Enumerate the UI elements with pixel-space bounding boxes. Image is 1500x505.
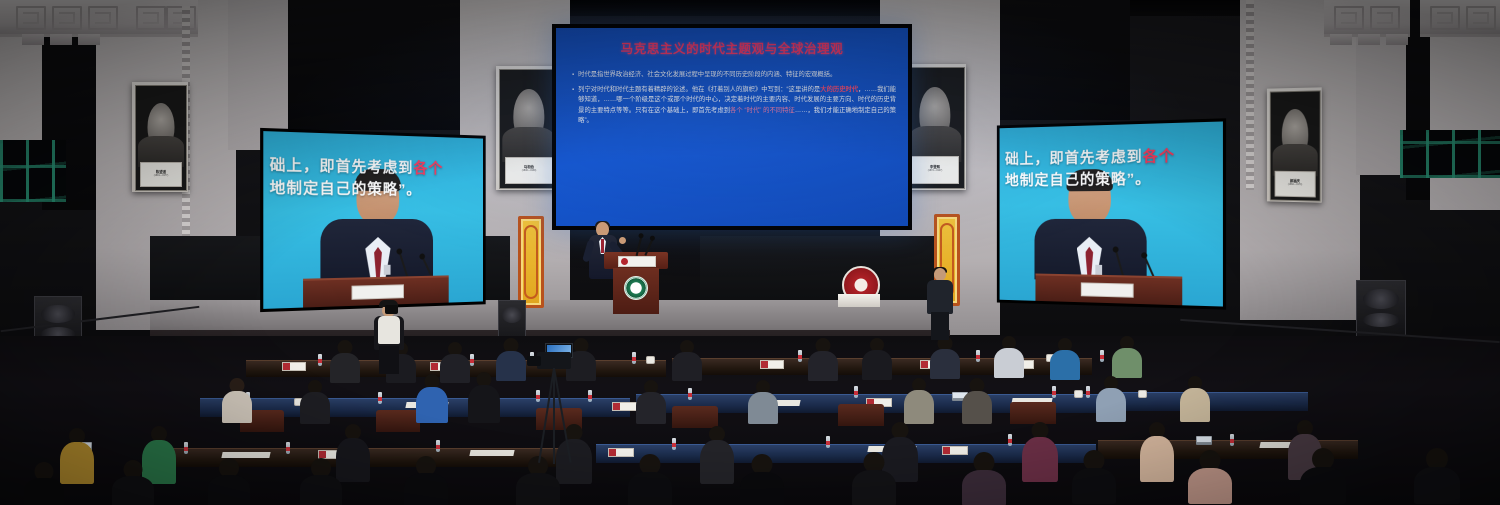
- audience-person: [930, 336, 960, 378]
- water-bottle: [588, 390, 592, 402]
- portrait-image: 马相伯 (1840—1939): [499, 69, 559, 189]
- overlay-line-1-red: 各个: [1143, 147, 1175, 165]
- bullet-seg-highlight-red: 大的历史时代: [820, 86, 858, 93]
- audience-person: [208, 458, 250, 505]
- slide-bullet-2: ▪ 列宁对时代和时代主题有着精辟的论述。他在《打着别人的旗帜》中写到：“这里讲的…: [572, 85, 896, 126]
- presenter-tie: [601, 239, 604, 253]
- portrait-years: (1872—1947): [912, 169, 959, 172]
- slide-surface: 马克思主义的时代主题观与全球治理观 ▪ 时代是指世界政治经济、社会文化发展过程中…: [556, 28, 908, 226]
- audience-person: [1180, 376, 1210, 422]
- dentil-course-1: [22, 34, 100, 45]
- left-led-screen[interactable]: 础上，即首先考虑到各个 地制定自己的策略”。: [260, 128, 486, 312]
- award-pedestal: [838, 294, 880, 307]
- portrait-years: (1882—1970): [1276, 182, 1315, 186]
- photo-camera-icon: [385, 305, 398, 314]
- slide-bullet-1: ▪ 时代是指世界政治经济、社会文化发展过程中呈现的不同历史阶段的内涵、特征的宏观…: [572, 70, 896, 80]
- tea-cup: [646, 356, 655, 364]
- audience-person: [748, 380, 778, 424]
- speaker-badge: [384, 265, 391, 275]
- pilaster-capital-1: [0, 0, 130, 37]
- water-bottle: [826, 436, 830, 448]
- audience-person: [416, 374, 448, 422]
- name-card-accent: [613, 403, 620, 410]
- water-bottle: [436, 440, 440, 452]
- audience-person: [962, 378, 992, 424]
- overlay-line-2: 地制定自己的策略”。: [270, 179, 422, 198]
- stage-backdrop-right: [700, 236, 950, 306]
- audience-person: [1112, 336, 1142, 378]
- water-bottle: [1100, 350, 1104, 362]
- audience-person: [740, 454, 784, 505]
- audience-person: [60, 428, 94, 484]
- gold-ornament-left: [518, 216, 544, 308]
- dentil-course-2: [1330, 34, 1408, 45]
- audience-person: [1096, 376, 1126, 422]
- pilaster-capital-4: [1420, 0, 1500, 37]
- water-bottle: [976, 350, 980, 362]
- water-bottle: [798, 350, 802, 362]
- bullet-marker: ▪: [572, 70, 574, 80]
- portrait-image: 陈望道 (1891—1977): [135, 85, 187, 191]
- audience-person: [468, 372, 500, 422]
- portrait-far-left: 陈望道 (1891—1977): [132, 82, 188, 192]
- bead-strip-right: [1246, 0, 1254, 190]
- water-bottle: [672, 438, 676, 450]
- audience-person: [1022, 422, 1058, 482]
- audience-person: [404, 456, 448, 505]
- audience-person: [300, 458, 342, 505]
- name-card-accent: [921, 361, 928, 368]
- document-stack: [469, 450, 514, 456]
- main-projection-screen[interactable]: 马克思主义的时代主题观与全球治理观 ▪ 时代是指世界政治经济、社会文化发展过程中…: [552, 24, 912, 230]
- name-card-accent: [761, 361, 768, 368]
- water-bottle: [318, 354, 322, 366]
- audience-person: [808, 338, 838, 380]
- audience-person: [628, 454, 672, 505]
- bullet-text: 时代是指世界政治经济、社会文化发展过程中呈现的不同历史阶段的内涵、特征的宏观概括…: [578, 70, 836, 80]
- audience-person: [112, 460, 154, 505]
- name-card-accent: [319, 451, 326, 458]
- water-bottle: [1230, 434, 1234, 446]
- overlay-line-1-plain: 础上，即首先考虑到: [1005, 148, 1143, 167]
- wall-bay-right-upper: [1000, 0, 1130, 120]
- podium-seal-icon: [621, 258, 628, 265]
- portrait-image: 颜福庆 (1882—1970): [1270, 90, 1321, 201]
- water-bottle: [854, 386, 858, 398]
- speaker-badge: [1095, 265, 1102, 275]
- portrait-nameplate: 马相伯 (1840—1939): [505, 157, 554, 185]
- wall-bay-left-upper: [288, 0, 460, 130]
- water-bottle: [184, 442, 188, 454]
- audience-person: [852, 452, 896, 505]
- laptop: [1196, 436, 1212, 445]
- chair-back: [1010, 402, 1056, 424]
- university-emblem-icon: [624, 276, 648, 300]
- portrait-image: 李登辉 (1872—1947): [905, 67, 965, 189]
- camera-lens-icon: [527, 356, 541, 366]
- audience-person: [222, 378, 252, 422]
- right-overlay-text: 础上，即首先考虑到各个 地制定自己的策略”。: [1005, 144, 1217, 191]
- lattice-window-left: [0, 140, 66, 202]
- audience-person: [962, 452, 1006, 505]
- water-bottle: [688, 388, 692, 400]
- audience-person: [636, 380, 666, 424]
- videographer-legs: [931, 312, 949, 340]
- name-card: [760, 360, 784, 369]
- audience-person: [330, 340, 360, 382]
- lattice-window-right: [1400, 130, 1500, 178]
- name-card-accent: [943, 447, 950, 454]
- audience-person: [1188, 450, 1232, 504]
- audience-person: [672, 340, 702, 380]
- videographer-torso: [927, 280, 953, 314]
- bullet-text: 列宁对时代和时代主题有着精辟的论述。他在《打着别人的旗帜》中写到：“这里讲的是大…: [578, 85, 896, 126]
- presenter-hand: [619, 237, 626, 244]
- name-card-accent: [283, 363, 290, 370]
- audience-person: [300, 380, 330, 424]
- overlay-line-1-plain: 础上，即首先考虑到: [270, 156, 414, 176]
- audience-person: [994, 336, 1024, 378]
- portrait-far-right: 颜福庆 (1882—1970): [1267, 87, 1322, 202]
- photographer-legs: [379, 346, 399, 374]
- water-bottle: [378, 392, 382, 404]
- slide-title: 马克思主义的时代主题观与全球治理观: [556, 38, 908, 57]
- lectern: [1035, 274, 1182, 306]
- water-bottle: [1008, 434, 1012, 446]
- audience-person: [862, 338, 892, 380]
- portrait-years: (1891—1977): [141, 174, 181, 177]
- audience-person: [1050, 338, 1080, 380]
- overlay-line-2: 地制定自己的策略”。: [1005, 170, 1151, 189]
- name-card: [612, 402, 638, 411]
- chair-back: [672, 406, 718, 428]
- water-bottle: [286, 442, 290, 454]
- water-bottle: [632, 352, 636, 364]
- audience-person: [496, 338, 526, 380]
- slide-body: ▪ 时代是指世界政治经济、社会文化发展过程中呈现的不同历史阶段的内涵、特征的宏观…: [572, 70, 896, 131]
- tea-cup: [1138, 390, 1147, 398]
- tripod-leg: [553, 368, 572, 463]
- portrait-nameplate: 李登辉 (1872—1947): [911, 156, 960, 184]
- name-card: [282, 362, 306, 371]
- right-led-screen[interactable]: 础上，即首先考虑到各个 地制定自己的策略”。: [997, 118, 1226, 310]
- audience-person: [904, 378, 934, 424]
- award-seal-stand: [838, 266, 880, 306]
- photographer: [372, 300, 406, 374]
- bullet-marker: ▪: [572, 85, 574, 126]
- bullet-seg-highlight-pink: 各个 “时代” 的不同特征: [730, 107, 795, 114]
- bullet-seg-plain-a: 列宁对时代和时代主题有着精辟的论述。他在《打着别人的旗帜》中写到：“这里讲的是: [578, 86, 820, 93]
- lectern-plate: [1081, 282, 1134, 297]
- chair-back: [376, 410, 420, 432]
- podium-nameplate: [618, 256, 656, 267]
- name-card-accent: [609, 449, 616, 456]
- audience-person: [1300, 448, 1346, 504]
- overlay-line-1-red: 各个: [413, 160, 443, 177]
- pilaster-capital-3: [1324, 0, 1410, 37]
- water-bottle: [1052, 386, 1056, 398]
- audience-person: [1414, 448, 1460, 504]
- water-bottle: [470, 354, 474, 366]
- photographer-vest: [378, 316, 400, 344]
- tripod-leg: [553, 368, 555, 464]
- camera-body: [537, 352, 571, 369]
- portrait-nameplate: 颜福庆 (1882—1970): [1275, 171, 1316, 197]
- audience-person: [24, 462, 64, 505]
- portrait-years: (1840—1939): [506, 169, 553, 172]
- audience-floor: [0, 336, 1500, 505]
- lectern-plate: [352, 284, 404, 300]
- portrait-nameplate: 陈望道 (1891—1977): [140, 162, 182, 187]
- audience-person: [700, 426, 734, 484]
- tea-cup: [1074, 390, 1083, 398]
- name-card-accent: [431, 363, 438, 370]
- water-bottle: [1086, 386, 1090, 398]
- videographer-on-stage: [925, 268, 955, 340]
- conference-hall-photo: 陈望道 (1891—1977) 马相伯 (1840—1939) 李登辉 (187…: [0, 0, 1500, 505]
- audience-person: [1140, 422, 1174, 482]
- portrait-left: 马相伯 (1840—1939): [496, 66, 560, 190]
- left-camera-feed: 础上，即首先考虑到各个 地制定自己的策略”。: [263, 131, 483, 309]
- left-overlay-text: 础上，即首先考虑到各个 地制定自己的策略”。: [270, 154, 478, 201]
- chair-back: [838, 404, 884, 426]
- right-camera-feed: 础上，即首先考虑到各个 地制定自己的策略”。: [1000, 121, 1223, 306]
- audience-person: [1072, 450, 1116, 504]
- podium: [608, 252, 664, 314]
- video-camera-tripod: [527, 352, 581, 470]
